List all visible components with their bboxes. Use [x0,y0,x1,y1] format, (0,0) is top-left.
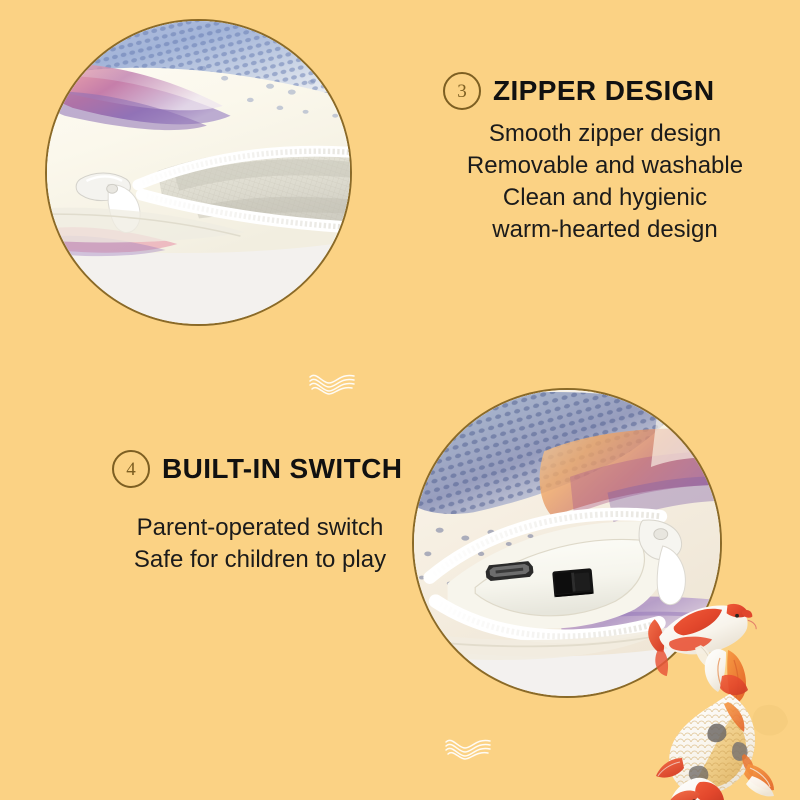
feature-4-number-badge: 4 [112,450,150,488]
feature-3-number-badge: 3 [443,72,481,110]
feature-4-description: Parent-operated switch Safe for children… [100,512,420,576]
feature-3-line-3: Clean and hygienic [440,182,770,214]
zipper-design-photo [45,19,352,326]
wave-ornament-bottom [443,735,493,761]
feature-4-title: BUILT-IN SWITCH [162,453,402,485]
wave-ornament-top [307,370,357,396]
feature-3-line-2: Removable and washable [440,150,770,182]
feature-4-line-1: Parent-operated switch [100,512,420,544]
feature-3-heading: 3 ZIPPER DESIGN [443,72,714,110]
feature-4-line-2: Safe for children to play [100,544,420,576]
feature-3-title: ZIPPER DESIGN [493,75,714,107]
feature-3-line-4: warm-hearted design [440,214,770,246]
koi-fish-illustration [640,588,800,800]
feature-4-heading: 4 BUILT-IN SWITCH [112,450,402,488]
feature-3-description: Smooth zipper design Removable and washa… [440,118,770,246]
infographic-canvas: 3 ZIPPER DESIGN Smooth zipper design Rem… [0,0,800,800]
feature-3-line-1: Smooth zipper design [440,118,770,150]
